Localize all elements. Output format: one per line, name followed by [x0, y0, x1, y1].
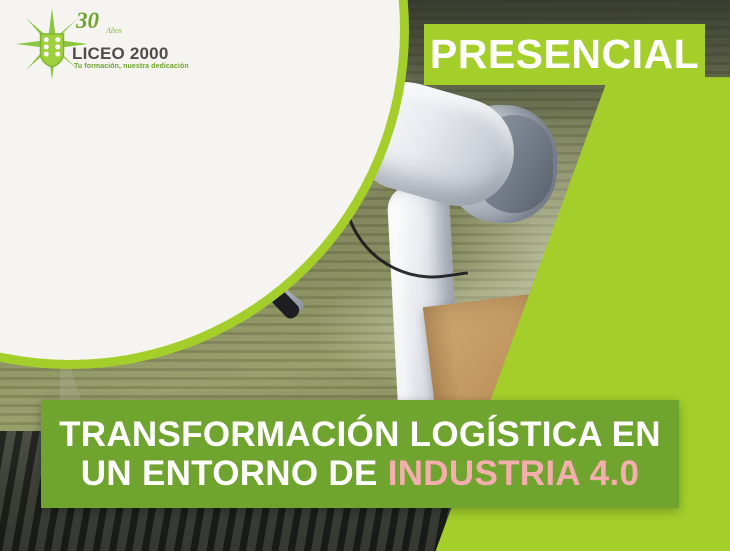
- course-title-line-2: UN ENTORNO DE INDUSTRIA 4.0: [81, 454, 639, 493]
- course-title-bar: TRANSFORMACIÓN LOGÍSTICA EN UN ENTORNO D…: [41, 400, 679, 508]
- course-promo-poster: 30 Años LICEO 2000 Tu formación, nuestra…: [0, 0, 730, 551]
- course-title-line-2-plain: UN ENTORNO DE: [81, 454, 388, 493]
- modality-badge-label: PRESENCIAL: [430, 34, 699, 75]
- modality-badge: PRESENCIAL: [424, 24, 705, 85]
- logo-anniversary-number: 30: [76, 8, 99, 34]
- logo-tagline: Tu formación, nuestra dedicación: [74, 63, 189, 70]
- course-title-line-1: TRANSFORMACIÓN LOGÍSTICA EN: [59, 415, 661, 454]
- logo-wordmark: LICEO 2000: [72, 44, 169, 64]
- liceo-2000-logo[interactable]: 30 Años LICEO 2000 Tu formación, nuestra…: [14, 6, 204, 82]
- course-title-accent: INDUSTRIA 4.0: [388, 454, 640, 493]
- logo-anniversary-word: Años: [106, 26, 122, 35]
